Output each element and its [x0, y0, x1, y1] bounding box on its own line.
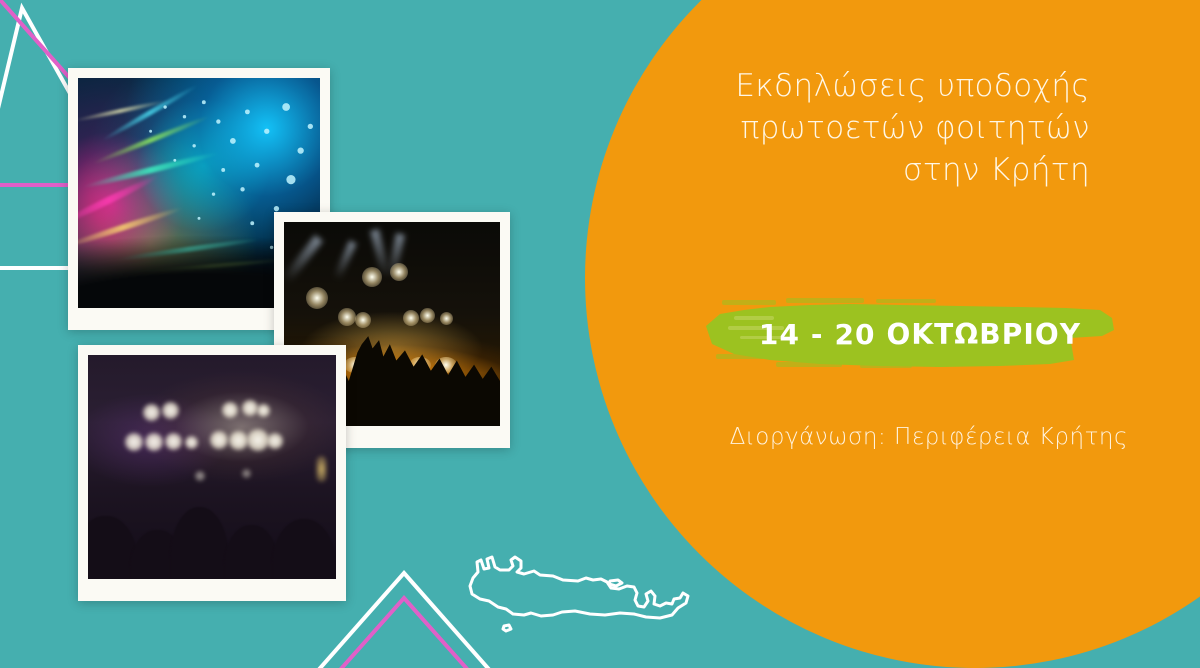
title-line-2: πρωτοετών φοιτητών: [660, 108, 1090, 150]
title-line-3: στην Κρήτη: [660, 150, 1090, 192]
crete-island-outline-icon: [470, 557, 688, 631]
poster-title: Εκδηλώσεις υποδοχής πρωτοετών φοιτητών σ…: [660, 66, 1090, 192]
photo-3-image: [88, 355, 336, 579]
organizer-line: Διοργάνωση: Περιφέρεια Κρήτης: [658, 424, 1128, 450]
photo-frame-3: [78, 345, 346, 601]
date-badge-label: 14 - 20 ΟΚΤΩΒΡΙΟΥ: [700, 296, 1130, 372]
title-line-1: Εκδηλώσεις υποδοχής: [660, 66, 1090, 108]
poster-canvas: Εκδηλώσεις υποδοχής πρωτοετών φοιτητών σ…: [0, 0, 1200, 668]
date-badge: 14 - 20 ΟΚΤΩΒΡΙΟΥ: [700, 296, 1130, 372]
triangle-bottom-pink-icon: [308, 598, 500, 668]
